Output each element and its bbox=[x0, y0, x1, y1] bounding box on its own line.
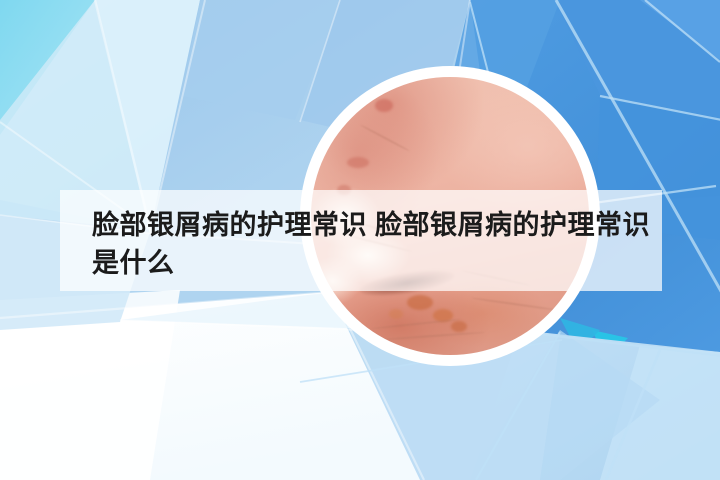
thumbnail-canvas: 脸部银屑病的护理常识 脸部银屑病的护理常识是什么 bbox=[0, 0, 720, 480]
band-layer: 脸部银屑病的护理常识 脸部银屑病的护理常识是什么 bbox=[0, 0, 720, 480]
page-title: 脸部银屑病的护理常识 脸部银屑病的护理常识是什么 bbox=[92, 206, 662, 282]
